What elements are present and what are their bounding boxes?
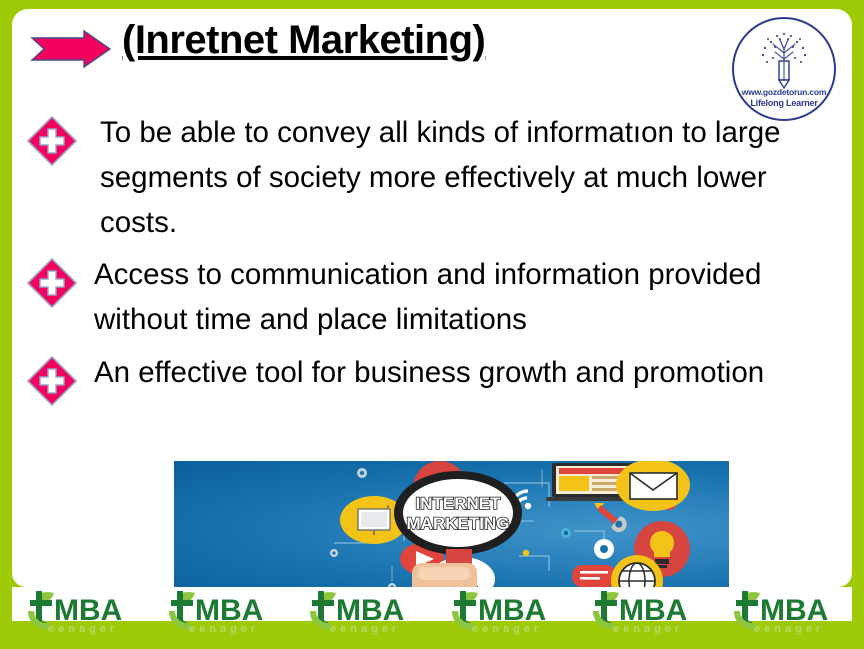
four-point-cross-diamond-bullet-icon xyxy=(26,115,78,167)
tmba-logo: MBA eenager xyxy=(18,587,142,635)
magnifier-hand-icon: INTERNET MARKETING xyxy=(394,471,522,594)
svg-text:eenager: eenager xyxy=(472,623,542,635)
four-point-cross-diamond-bullet-icon xyxy=(26,355,78,407)
svg-text:eenager: eenager xyxy=(754,623,824,635)
tmba-logo: MBA eenager xyxy=(300,587,424,635)
list-item-text: Access to communication and information … xyxy=(84,251,846,343)
four-point-cross-diamond-bullet-icon xyxy=(26,257,78,309)
tmba-logo: MBA eenager xyxy=(583,587,707,635)
brand-logo-website: www.gozdetorun.com xyxy=(732,87,836,97)
brand-logo-tagline: Lifelong Learner xyxy=(732,98,836,108)
brand-logo: www.gozdetorun.com Lifelong Learner xyxy=(732,17,836,121)
list-item: To be able to convey all kinds of inform… xyxy=(26,109,846,245)
svg-text:eenager: eenager xyxy=(330,623,400,635)
page-title: (Inretnet Marketing) xyxy=(122,19,485,61)
magnifier-label-line2: MARKETING xyxy=(407,514,510,533)
tmba-logo: MBA eenager xyxy=(724,587,848,635)
list-item: Access to communication and information … xyxy=(26,251,846,343)
right-arrow-icon xyxy=(30,29,112,69)
svg-text:eenager: eenager xyxy=(48,623,118,635)
magnifier-label-line1: INTERNET xyxy=(416,494,502,513)
envelope-mail-icon xyxy=(616,461,690,511)
tmba-logo: MBA eenager xyxy=(442,587,566,635)
svg-text:eenager: eenager xyxy=(613,623,683,635)
footer: MBA eenager MBA eenager xyxy=(0,587,864,649)
slide: (Inretnet Marketing) xyxy=(0,0,864,649)
svg-text:eenager: eenager xyxy=(189,623,259,635)
slide-content-panel: (Inretnet Marketing) xyxy=(12,9,852,587)
list-item-text: An effective tool for business growth an… xyxy=(84,349,846,396)
title-row: (Inretnet Marketing) xyxy=(22,17,742,79)
list-item-text: To be able to convey all kinds of inform… xyxy=(84,109,846,245)
bullet-list: To be able to convey all kinds of inform… xyxy=(26,109,846,413)
list-item: An effective tool for business growth an… xyxy=(26,349,846,407)
tmba-logo: MBA eenager xyxy=(159,587,283,635)
pencil-tree-emblem-icon xyxy=(751,31,817,89)
internet-marketing-illustration: INTERNET MARKETING xyxy=(174,461,729,594)
gear-icon xyxy=(594,539,614,559)
footer-logo-strip: MBA eenager MBA eenager xyxy=(18,587,848,637)
